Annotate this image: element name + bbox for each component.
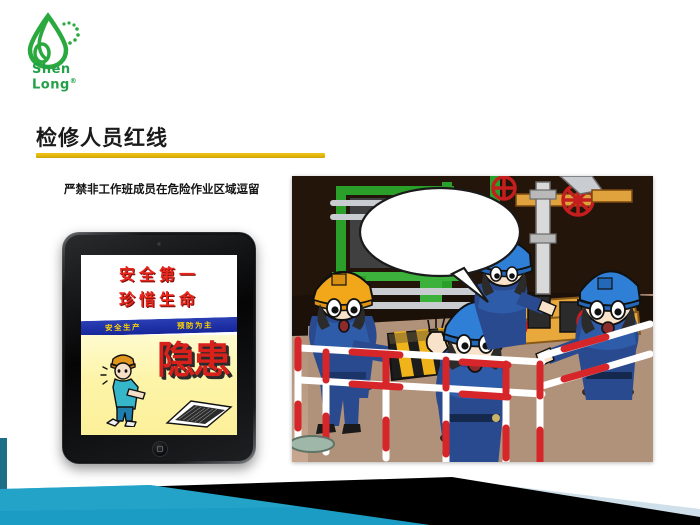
tablet-screen: 安全第一 珍惜生命 安全生产 预防为主 隐患 <box>81 255 237 435</box>
safety-poster: 安全第一 珍惜生命 安全生产 预防为主 隐患 <box>81 255 237 435</box>
page-title: 检修人员红线 <box>36 122 168 152</box>
camera-icon <box>157 242 161 246</box>
safety-cartoon-illustration: 作业区域 请速离开 <box>292 176 653 462</box>
hazard-word-text: 隐患 <box>157 341 229 379</box>
slide-canvas: Shen Long® 检修人员红线 严禁非工作班成员在危险作业区域逗留 安全第一… <box>0 0 700 525</box>
shen-long-logo: Shen Long® <box>14 12 104 82</box>
poster-worker-figure <box>95 349 155 427</box>
poster-heading-line-2: 珍惜生命 <box>119 286 199 310</box>
ribbon-text-right: 预防为主 <box>177 319 213 331</box>
bottom-decorative-band <box>0 455 700 525</box>
logo-brand-label: Shen Long <box>32 62 71 92</box>
poster-heading-block: 安全第一 珍惜生命 <box>81 255 237 315</box>
logo-brand-text: Shen Long® <box>32 62 104 92</box>
poster-heading-line-1: 安全第一 <box>119 261 199 285</box>
tablet-device: 安全第一 珍惜生命 安全生产 预防为主 隐患 <box>62 232 256 464</box>
title-underline-rule <box>36 153 325 158</box>
poster-illustration-area: 隐患 <box>81 335 237 435</box>
railing-base <box>292 436 334 452</box>
ribbon-text-left: 安全生产 <box>105 322 141 334</box>
scene-artwork <box>292 176 653 462</box>
registered-mark: ® <box>70 77 78 85</box>
poster-grate-mat <box>161 395 233 429</box>
subtitle-text: 严禁非工作班成员在危险作业区域逗留 <box>64 181 296 198</box>
